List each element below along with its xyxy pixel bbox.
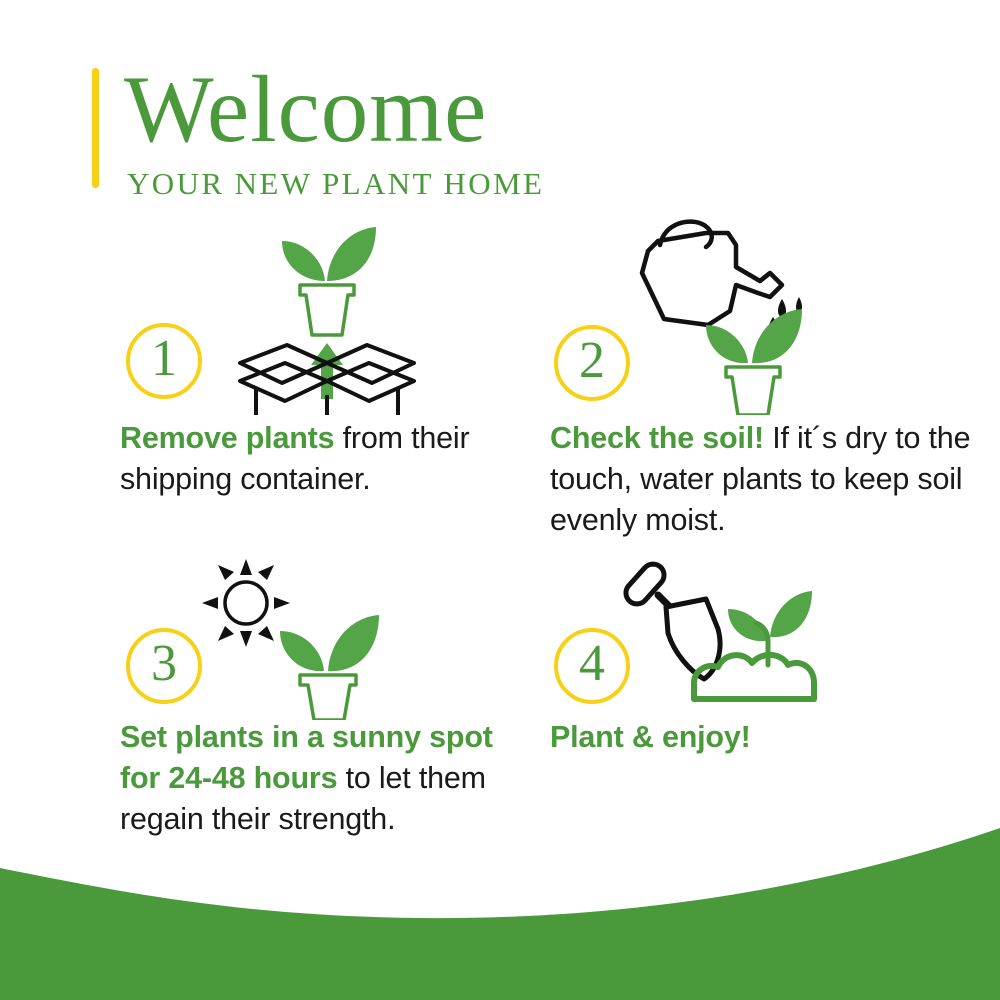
step-4-number-badge: 4 xyxy=(554,628,630,704)
step-1-caption: Remove plants from their shipping contai… xyxy=(120,418,540,500)
watering-can-pouring-on-potted-plant-icon xyxy=(620,215,870,420)
footer-wave-shape xyxy=(0,820,1000,1000)
welcome-plant-care-card: Welcome YOUR NEW PLANT HOME 1 xyxy=(0,0,1000,1000)
step-1-number: 1 xyxy=(151,333,177,385)
step-2-number-badge: 2 xyxy=(554,325,630,401)
step-1-number-badge: 1 xyxy=(126,323,202,399)
step-1-highlight: Remove plants xyxy=(120,421,334,455)
plant-rising-from-open-box-icon xyxy=(230,215,420,420)
step-4-number: 4 xyxy=(579,638,605,690)
accent-bar-icon xyxy=(92,68,99,188)
step-3-number: 3 xyxy=(151,638,177,690)
page-subtitle: YOUR NEW PLANT HOME xyxy=(127,167,544,201)
step-2-highlight: Check the soil! xyxy=(550,421,764,455)
trowel-and-seedling-in-soil-icon xyxy=(620,555,870,710)
sun-and-potted-plant-icon xyxy=(190,555,400,725)
step-4-caption: Plant & enjoy! xyxy=(550,717,980,758)
page-title: Welcome xyxy=(124,62,544,157)
step-4-highlight: Plant & enjoy! xyxy=(550,720,751,754)
step-2-caption: Check the soil! If it´s dry to the touch… xyxy=(550,418,980,541)
step-2-number: 2 xyxy=(579,335,605,387)
header-texts: Welcome YOUR NEW PLANT HOME xyxy=(124,62,544,201)
